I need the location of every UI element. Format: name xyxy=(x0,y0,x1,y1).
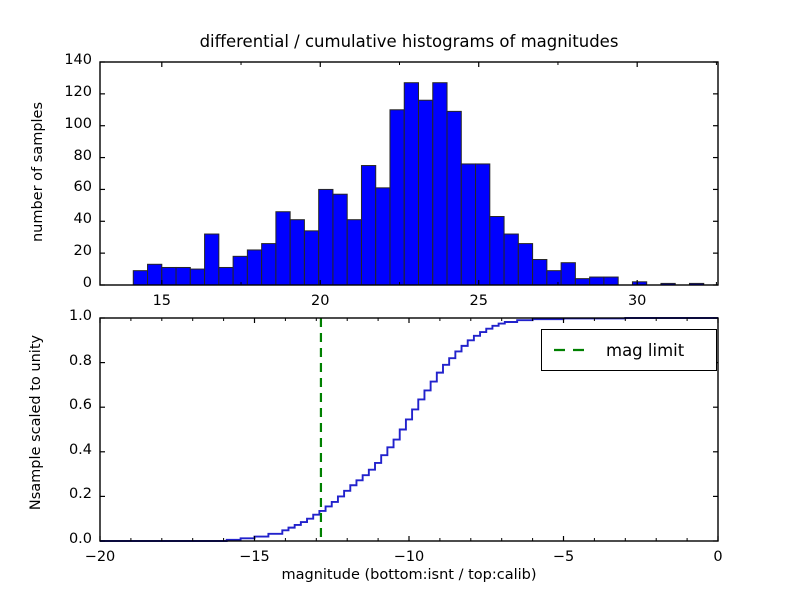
x-tick-label: 0 xyxy=(686,549,750,565)
x-tick-label: 30 xyxy=(607,293,667,309)
y-tick-label: 20 xyxy=(28,243,92,259)
y-tick-label: 80 xyxy=(28,148,92,164)
y-tick-label: 1.0 xyxy=(28,308,92,324)
y-tick-label: 40 xyxy=(28,211,92,227)
x-tick-label: 25 xyxy=(449,293,509,309)
x-tick-label: −5 xyxy=(532,549,596,565)
legend-entry-mag-limit: mag limit xyxy=(552,341,684,360)
y-tick-label: 0 xyxy=(28,275,92,291)
y-tick-label: 0.8 xyxy=(28,353,92,369)
legend-label: mag limit xyxy=(606,341,684,360)
y-tick-label: 60 xyxy=(28,179,92,195)
bottom-axes-plot xyxy=(0,0,800,600)
y-tick-label: 120 xyxy=(28,84,92,100)
x-tick-label: −15 xyxy=(223,549,287,565)
bottom-axes-xlabel: magnitude (bottom:isnt / top:calib) xyxy=(100,567,718,583)
y-tick-label: 140 xyxy=(28,52,92,68)
dashed-line-icon xyxy=(552,344,594,356)
matplotlib-figure: differential / cumulative histograms of … xyxy=(0,0,800,600)
x-tick-label: 20 xyxy=(290,293,350,309)
y-tick-label: 0.4 xyxy=(28,442,92,458)
x-tick-label: 15 xyxy=(132,293,192,309)
y-tick-label: 0.6 xyxy=(28,397,92,413)
x-tick-label: −20 xyxy=(68,549,132,565)
legend[interactable]: mag limit xyxy=(541,329,717,371)
x-tick-label: −10 xyxy=(377,549,441,565)
y-tick-label: 0.0 xyxy=(28,531,92,547)
y-tick-label: 100 xyxy=(28,116,92,132)
y-tick-label: 0.2 xyxy=(28,486,92,502)
